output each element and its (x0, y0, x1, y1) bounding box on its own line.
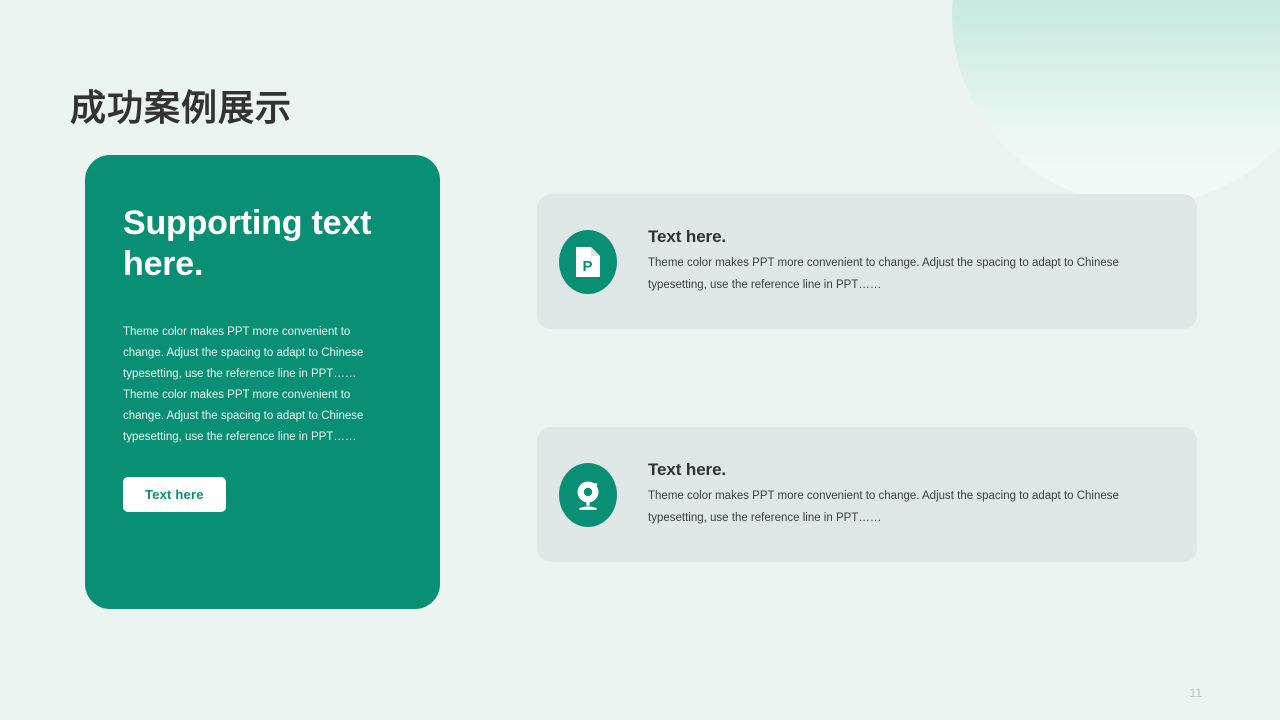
webcam-icon (559, 463, 617, 527)
info-card-1-heading: Text here. (648, 227, 1173, 247)
page-number: 11 (1190, 686, 1202, 700)
info-card-2[interactable]: Text here. Theme color makes PPT more co… (537, 427, 1197, 562)
svg-text:P: P (582, 258, 592, 275)
info-card-2-text: Text here. Theme color makes PPT more co… (648, 460, 1173, 529)
decorative-circle (952, 0, 1280, 205)
feature-card-body: Theme color makes PPT more convenient to… (123, 322, 375, 448)
feature-card: Supporting text here. Theme color makes … (85, 155, 440, 609)
info-card-2-heading: Text here. (648, 460, 1173, 480)
info-card-1[interactable]: P Text here. Theme color makes PPT more … (537, 194, 1197, 329)
slide-canvas: 成功案例展示 Supporting text here. Theme color… (0, 0, 1280, 720)
info-card-2-body: Theme color makes PPT more convenient to… (648, 486, 1168, 529)
info-card-1-text: Text here. Theme color makes PPT more co… (648, 227, 1173, 296)
info-card-1-body: Theme color makes PPT more convenient to… (648, 253, 1168, 296)
page-title: 成功案例展示 (70, 79, 292, 131)
feature-card-heading: Supporting text here. (123, 203, 402, 286)
text-here-button[interactable]: Text here (123, 477, 226, 512)
ppt-file-icon: P (559, 230, 617, 294)
